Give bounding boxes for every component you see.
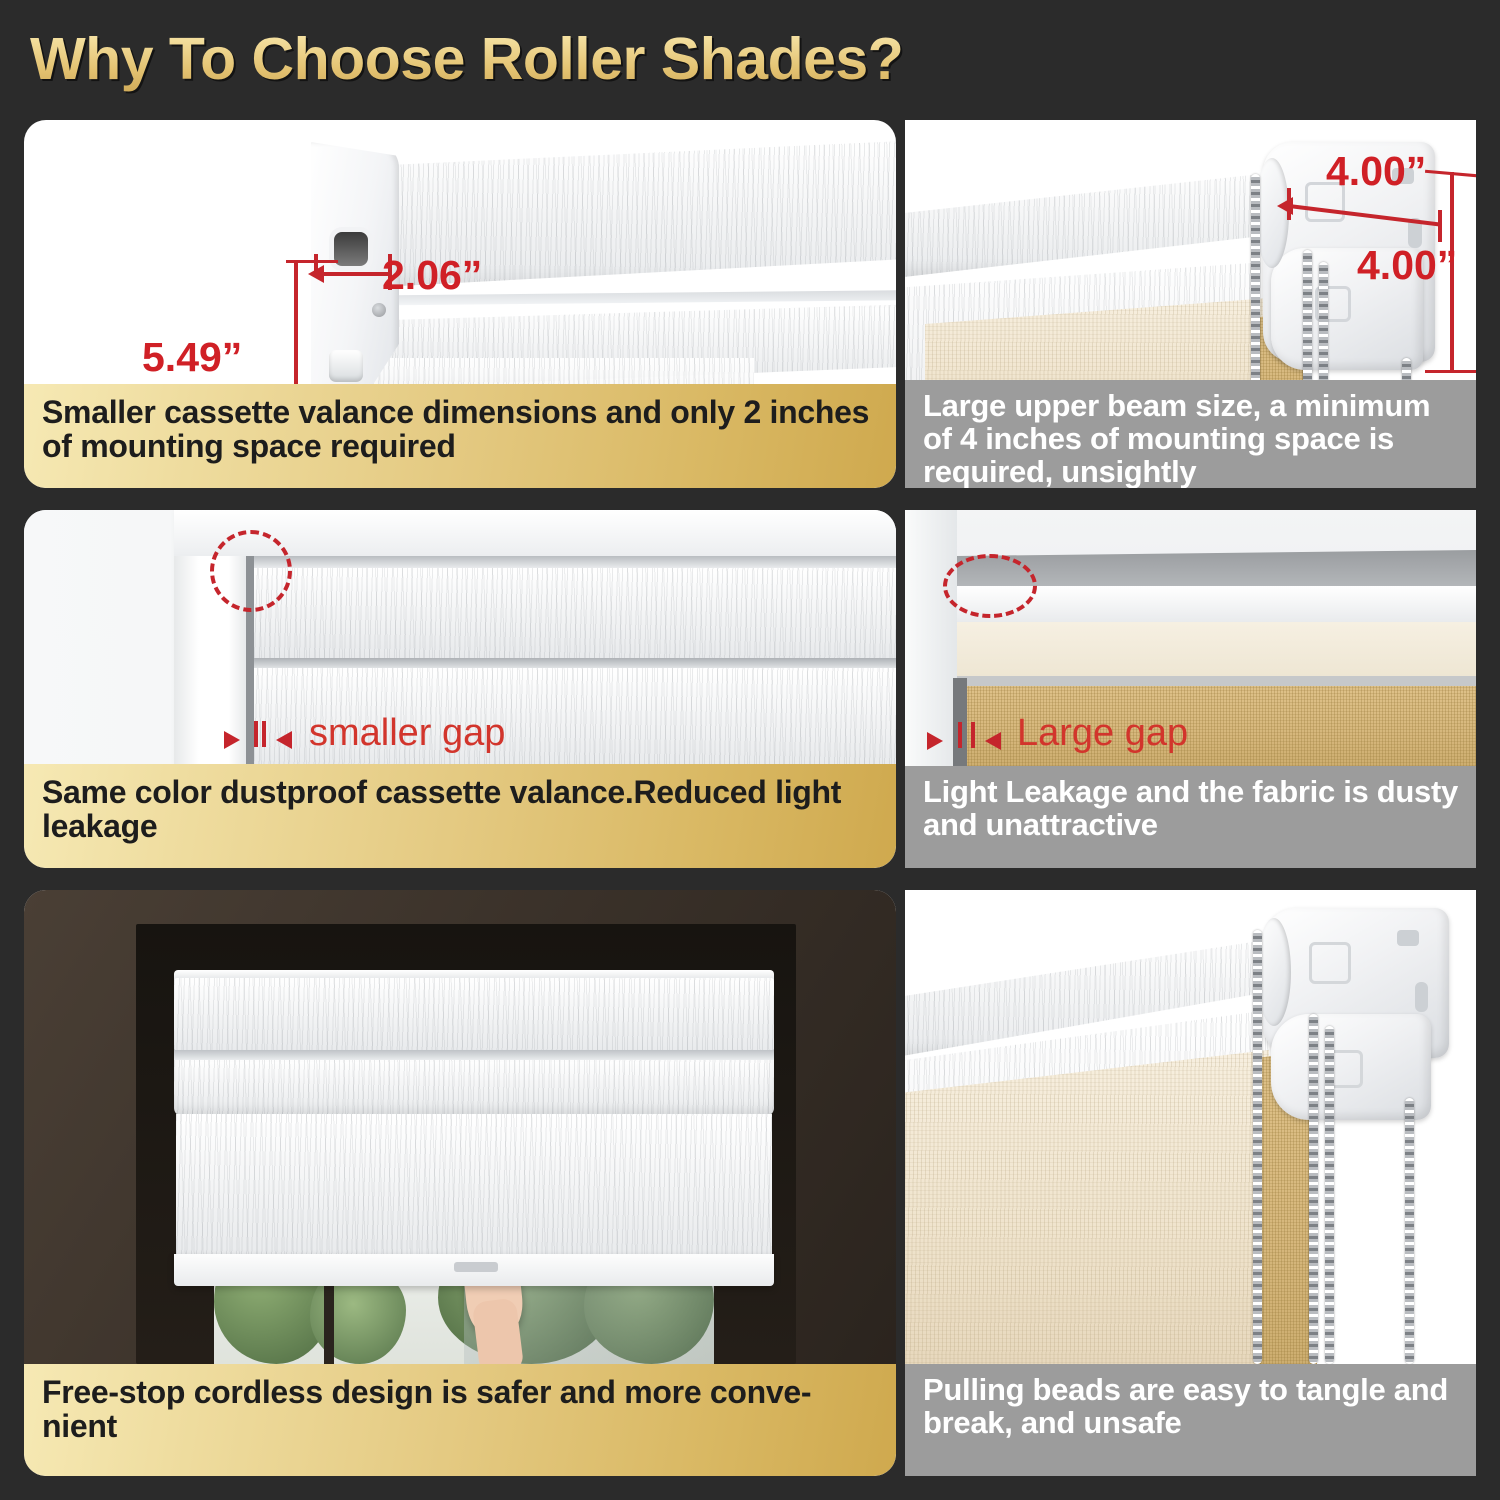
cassette-highlight-circle	[210, 530, 292, 612]
gap-callout-label: Large gap	[1017, 712, 1188, 755]
beam-width-dimension-label: 4.00”	[1326, 148, 1426, 195]
gap-arrow-left	[276, 731, 292, 749]
beam-height-dimension-label: 4.00”	[1357, 242, 1457, 289]
shade-beige-panel	[905, 1050, 1269, 1364]
shade-fabric-upper	[252, 568, 896, 658]
caption-large-upper-beam: Large upper beam size, a minimum of 4 in…	[905, 380, 1476, 488]
end-cap-control-slot	[334, 232, 368, 266]
beam-height-tick-bottom	[1425, 370, 1476, 373]
valance-cream-face	[957, 622, 1476, 678]
panel-light-leakage-dusty-fabric: Large gap Light Leakage and the fabric i…	[905, 510, 1476, 868]
width-dimension-tick-left	[314, 254, 318, 272]
gap-arrow-left	[985, 732, 1001, 750]
panel-cassette-valance-dimensions: 2.06” 5.49” Smaller cassette valance dim…	[24, 120, 896, 488]
valance-bottom-rail	[957, 676, 1476, 686]
width-dimension-label: 2.06”	[382, 252, 482, 299]
height-dimension-tick-top	[286, 260, 338, 263]
caption-cassette-valance-dimensions: Smaller cassette valance dimensions and …	[24, 384, 896, 488]
cassette-mid-rail	[252, 658, 896, 668]
caption-free-stop-cordless-design: Free-stop cordless design is safer and m…	[24, 1364, 896, 1476]
cassette-valance-face	[174, 978, 774, 1052]
panel-free-stop-cordless-design: Free-stop cordless design is safer and m…	[24, 890, 896, 1476]
caption-pulling-beads-tangle: Pulling beads are easy to tangle and bre…	[905, 1364, 1476, 1476]
roller-end-disc	[1257, 918, 1291, 1026]
caption-light-leakage-dusty-fabric: Light Leakage and the fabric is dusty an…	[905, 766, 1476, 868]
gap-arrow-right	[927, 732, 943, 750]
cassette-top-rail	[252, 556, 896, 568]
bracket-slot-top	[1397, 930, 1419, 946]
beam-width-tick-right	[1438, 210, 1442, 242]
gap-tick-a	[958, 722, 962, 748]
gap-highlight-ellipse	[943, 554, 1037, 618]
bracket-logo-top-icon	[1309, 942, 1351, 984]
gap-callout-label: smaller gap	[309, 712, 505, 755]
bottom-rail-grip	[454, 1262, 498, 1272]
caption-dustproof-cassette-valance: Same color dustproof cassette valance.Re…	[24, 764, 896, 868]
bracket-slot-mid	[1415, 982, 1428, 1012]
bead-chain-front	[1253, 930, 1262, 1364]
gap-tick-b	[262, 721, 266, 747]
beam-width-tick-left	[1287, 188, 1291, 220]
width-dimension-line	[317, 272, 392, 276]
bead-chain-mid	[1309, 1014, 1318, 1364]
panel-large-upper-beam: 4.00” 4.00” Large upper beam size, a min…	[905, 120, 1476, 488]
bead-chain-tail	[1405, 1098, 1414, 1364]
end-cap-lower-clip	[329, 350, 363, 382]
window-reveal	[905, 510, 957, 766]
end-cap-screw-icon	[372, 303, 386, 317]
gap-tick-b	[971, 722, 975, 748]
panel-pulling-beads-tangle: Pulling beads are easy to tangle and bre…	[905, 890, 1476, 1476]
shade-fabric-main	[176, 1114, 772, 1260]
gap-tick-a	[254, 721, 258, 747]
panel-dustproof-cassette-valance: smaller gap Same color dustproof cassett…	[24, 510, 896, 868]
shade-roll-front	[174, 1060, 774, 1116]
page-title: Why To Choose Roller Shades?	[30, 14, 1130, 104]
gap-arrow-right	[224, 731, 240, 749]
height-dimension-label: 5.49”	[142, 334, 242, 381]
forearm	[472, 1298, 524, 1375]
bead-chain-rear	[1325, 1026, 1334, 1364]
